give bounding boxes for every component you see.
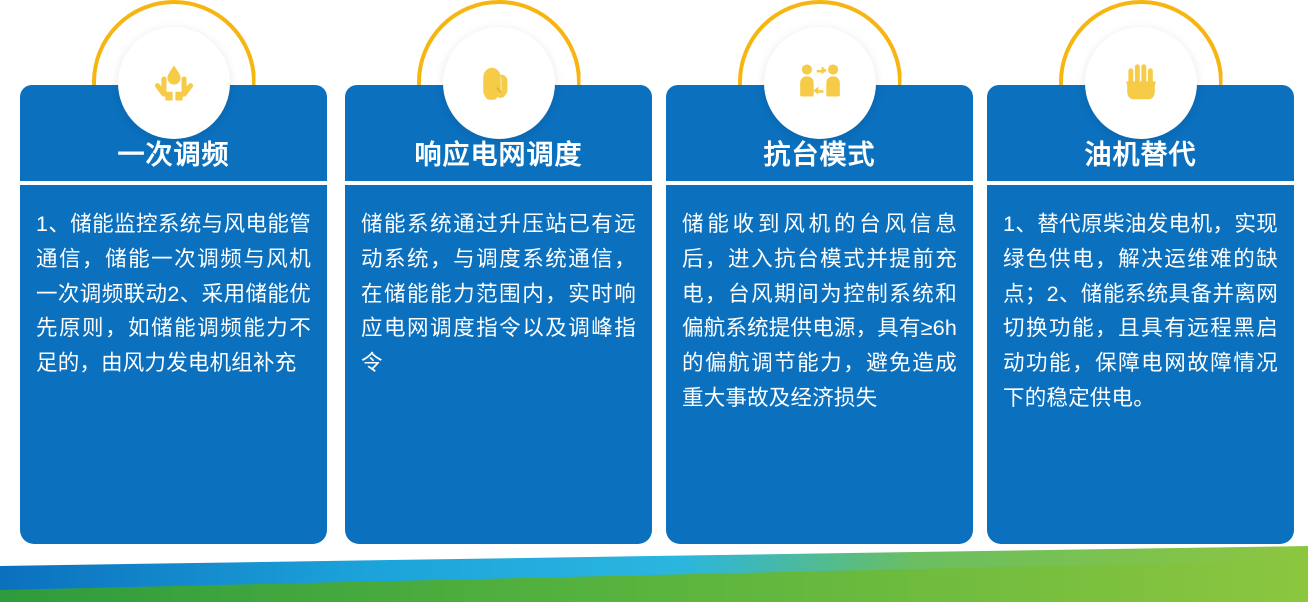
feature-card-1[interactable]: 一次调频 1、储能监控系统与风电能管通信，储能一次调频与风机一次调频联动2、采用… <box>20 85 327 544</box>
card-body-text: 1、储能监控系统与风电能管通信，储能一次调频与风机一次调频联动2、采用储能优先原… <box>36 207 311 381</box>
feature-card-2[interactable]: 响应电网调度 储能系统通过升压站已有远动系统，与调度系统通信，在储能能力范围内，… <box>345 85 652 544</box>
card-body-text: 储能收到风机的台风信息后，进入抗台模式并提前充电，台风期间为控制系统和偏航系统提… <box>682 207 957 416</box>
open-palm-hand-icon <box>1085 27 1197 139</box>
handshake-mitten-icon <box>443 27 555 139</box>
cards-row: 一次调频 1、储能监控系统与风电能管通信，储能一次调频与风机一次调频联动2、采用… <box>0 0 1308 548</box>
card-body-text: 1、替代原柴油发电机，实现绿色供电，解决运维难的缺点；2、储能系统具备并离网切换… <box>1003 207 1278 416</box>
card-title: 一次调频 <box>20 141 327 171</box>
feature-card-3[interactable]: 抗台模式 储能收到风机的台风信息后，进入抗台模式并提前充电，台风期间为控制系统和… <box>666 85 973 544</box>
feature-card-4[interactable]: 油机替代 1、替代原柴油发电机，实现绿色供电，解决运维难的缺点；2、储能系统具备… <box>987 85 1294 544</box>
card-body: 储能收到风机的台风信息后，进入抗台模式并提前充电，台风期间为控制系统和偏航系统提… <box>666 185 973 544</box>
card-title: 响应电网调度 <box>345 141 652 171</box>
hands-holding-droplet-icon <box>118 27 230 139</box>
card-body: 1、储能监控系统与风电能管通信，储能一次调频与风机一次调频联动2、采用储能优先原… <box>20 185 327 544</box>
card-title: 抗台模式 <box>666 141 973 171</box>
footer-wave-decoration <box>0 530 1308 602</box>
two-people-exchange-icon <box>764 27 876 139</box>
card-body-text: 储能系统通过升压站已有远动系统，与调度系统通信，在储能能力范围内，实时响应电网调… <box>361 207 636 381</box>
card-title: 油机替代 <box>987 141 1294 171</box>
card-body: 储能系统通过升压站已有远动系统，与调度系统通信，在储能能力范围内，实时响应电网调… <box>345 185 652 544</box>
card-body: 1、替代原柴油发电机，实现绿色供电，解决运维难的缺点；2、储能系统具备并离网切换… <box>987 185 1294 544</box>
slide-root: 一次调频 1、储能监控系统与风电能管通信，储能一次调频与风机一次调频联动2、采用… <box>0 0 1308 602</box>
